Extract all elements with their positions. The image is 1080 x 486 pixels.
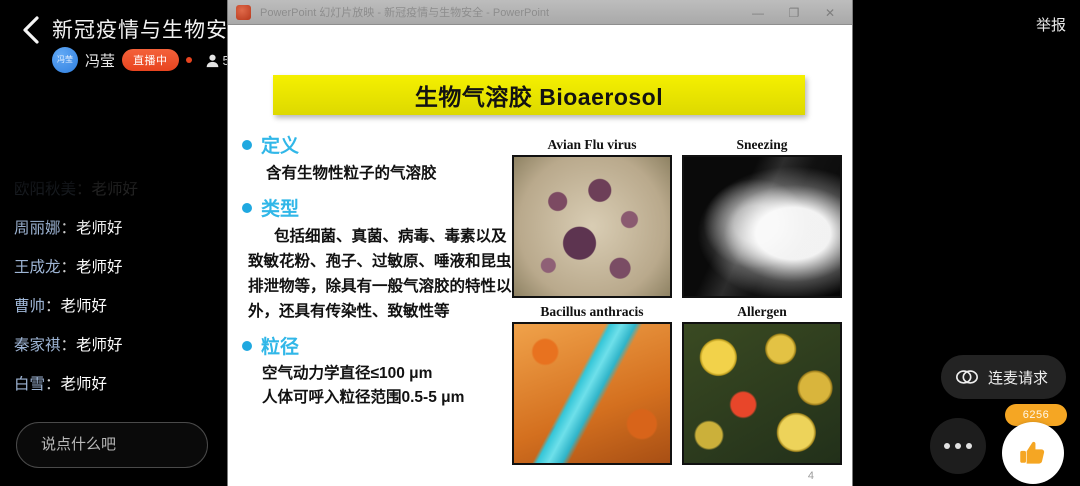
like-button[interactable] [1002,422,1064,484]
chat-nickname: 欧阳秋美 [14,181,76,198]
slide-number: 4 [808,470,814,482]
chat-separator: ： [61,259,77,276]
chat-message: 王成龙：老师好 [0,248,228,287]
avatar[interactable]: 冯莹 [52,47,78,73]
chat-body: 老师好 [76,259,123,276]
picture-frame [682,322,842,465]
minimize-button[interactable]: — [740,0,776,25]
slide-title-banner: 生物气溶胶 Bioaerosol [273,75,805,115]
report-button[interactable]: 举报 [1036,14,1066,35]
chat-message: 欧阳秋美：老师好 [0,170,228,209]
chat-separator: ： [61,220,77,237]
slide-body: 定义 含有生物性粒子的气溶胶 类型 包括细菌、真菌、病毒、毒素以及致敏花粉、孢子… [242,131,514,410]
heading-text: 类型 [261,194,299,221]
slide-picture-grid: Avian Flu virusSneezingBacillus anthraci… [512,137,842,465]
dot-icon [944,443,950,449]
live-stream-screen: 新冠疫情与生物安全 冯莹 冯莹 直播中 511 举报 欧阳秋美：老师好周丽娜：老… [0,0,1080,486]
chat-message: 曹帅：老师好 [0,287,228,326]
mic-request-label: 连麦请求 [988,367,1048,388]
chat-body: 老师好 [92,181,139,198]
particle-size-line-2: 人体可呼入粒径范围0.5-5 μm [242,386,514,410]
heading-text: 定义 [261,131,299,158]
bullet-heading-particle-size: 粒径 [242,332,514,359]
chat-message-list[interactable]: 欧阳秋美：老师好周丽娜：老师好王成龙：老师好曹帅：老师好秦家祺：老师好白雪：老师… [0,170,228,402]
like-control: 6256 [1002,404,1074,484]
particle-size-line-1: 空气动力学直径≤100 μm [242,362,514,386]
powerpoint-window[interactable]: PowerPoint 幻灯片放映 - 新冠疫情与生物安全 - PowerPoin… [228,0,852,486]
host-info-row: 冯莹 冯莹 直播中 511 [52,47,243,73]
picture-frame [512,155,672,298]
picture-image [684,157,840,296]
chat-message: 秦家祺：老师好 [0,326,228,365]
chat-separator: ： [76,181,92,198]
picture-caption: Sneezing [682,137,842,153]
more-options-button[interactable] [930,418,986,474]
slide-picture-cell: Sneezing [682,137,842,298]
chat-message: 周丽娜：老师好 [0,209,228,248]
slide-stage[interactable]: 生物气溶胶 Bioaerosol 定义 含有生物性粒子的气溶胶 类型 包括细菌、… [228,25,852,486]
person-icon [205,53,220,68]
picture-frame [512,322,672,465]
picture-image [514,324,670,463]
chat-input[interactable]: 说点什么吧 [16,422,208,468]
chat-separator: ： [45,298,61,315]
definition-text: 含有生物性粒子的气溶胶 [242,161,514,186]
chat-body: 老师好 [61,376,108,393]
picture-image [514,157,670,296]
mic-request-button[interactable]: 连麦请求 [941,355,1066,399]
slide-title-text: 生物气溶胶 Bioaerosol [415,78,663,112]
chat-nickname: 白雪 [14,376,45,393]
heading-text: 粒径 [261,332,299,359]
link-mic-icon [955,367,979,387]
chat-separator: ： [45,376,61,393]
thumbs-up-icon [1016,436,1050,470]
chat-nickname: 周丽娜 [14,220,61,237]
powerpoint-logo-icon [236,5,251,20]
bullet-heading-types: 类型 [242,194,514,221]
chat-message: 白雪：老师好 [0,365,228,402]
maximize-button[interactable]: ❐ [776,0,812,25]
chat-body: 老师好 [76,220,123,237]
chat-body: 老师好 [76,337,123,354]
status-badge: 直播中 [122,49,179,71]
chat-separator: ： [61,337,77,354]
slide-picture-cell: Allergen [682,304,842,465]
slide-picture-cell: Avian Flu virus [512,137,672,298]
close-button[interactable]: ✕ [812,0,848,25]
back-chevron-icon[interactable] [18,14,44,46]
picture-caption: Allergen [682,304,842,320]
picture-caption: Avian Flu virus [512,137,672,153]
window-controls: — ❐ ✕ [740,0,848,25]
window-titlebar[interactable]: PowerPoint 幻灯片放映 - 新冠疫情与生物安全 - PowerPoin… [228,0,852,25]
picture-frame [682,155,842,298]
live-indicator-dot [186,57,192,63]
slide-picture-cell: Bacillus anthracis [512,304,672,465]
bullet-dot-icon [242,140,252,150]
types-text: 包括细菌、真菌、病毒、毒素以及致敏花粉、孢子、过敏原、唾液和昆虫排泄物等，除具有… [242,224,514,324]
window-title: PowerPoint 幻灯片放映 - 新冠疫情与生物安全 - PowerPoin… [260,4,549,20]
bullet-dot-icon [242,341,252,351]
picture-image [684,324,840,463]
picture-caption: Bacillus anthracis [512,304,672,320]
bullet-heading-definition: 定义 [242,131,514,158]
dot-icon [966,443,972,449]
chat-nickname: 王成龙 [14,259,61,276]
chat-nickname: 秦家祺 [14,337,61,354]
bullet-dot-icon [242,203,252,213]
host-name: 冯莹 [85,50,115,71]
chat-body: 老师好 [61,298,108,315]
dot-icon [955,443,961,449]
page-title: 新冠疫情与生物安全 [52,14,250,44]
chat-nickname: 曹帅 [14,298,45,315]
